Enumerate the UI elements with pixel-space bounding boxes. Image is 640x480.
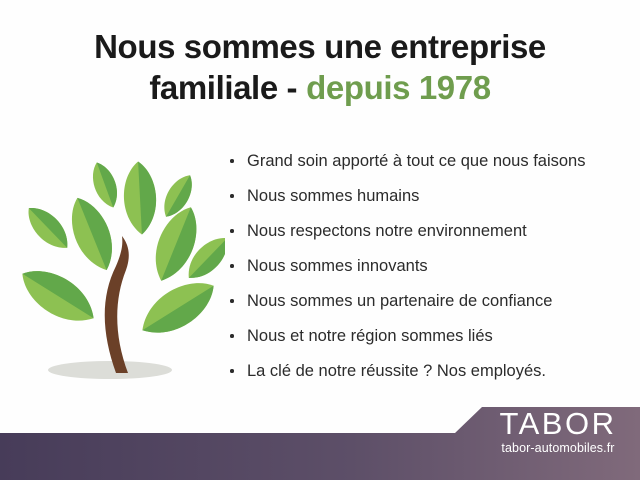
- bullet-icon: [230, 194, 234, 198]
- list-item: Nous sommes innovants: [228, 255, 632, 290]
- slide-canvas: Nous sommes une entreprise familiale -de…: [0, 0, 640, 480]
- brand-url: tabor-automobiles.fr: [478, 441, 638, 455]
- bullet-icon: [230, 334, 234, 338]
- list-item: Nous sommes humains: [228, 185, 632, 220]
- list-item-label: Nous respectons notre environnement: [247, 222, 527, 240]
- footer-bar: TABOR tabor-automobiles.fr: [0, 398, 640, 480]
- list-item-label: Nous sommes un partenaire de confiance: [247, 292, 552, 310]
- bullet-icon: [230, 369, 234, 373]
- page-title-accent: depuis 1978: [306, 69, 491, 106]
- brand-wordmark: TABOR: [478, 408, 638, 440]
- list-item-label: Nous et notre région sommes liés: [247, 327, 493, 345]
- page-title: Nous sommes une entreprise familiale -de…: [0, 26, 640, 108]
- list-item: Nous respectons notre environnement: [228, 220, 632, 255]
- bullet-icon: [230, 299, 234, 303]
- tree-shadow: [48, 361, 172, 379]
- list-item-label: Grand soin apporté à tout ce que nous fa…: [247, 152, 585, 170]
- bullet-icon: [230, 229, 234, 233]
- page-title-line-1: Nous sommes une entreprise: [94, 28, 546, 65]
- page-title-line-2: familiale -depuis 1978: [0, 67, 640, 108]
- list-item-label: Nous sommes humains: [247, 187, 419, 205]
- list-item: Grand soin apporté à tout ce que nous fa…: [228, 150, 632, 185]
- list-item: Nous sommes un partenaire de confiance: [228, 290, 632, 325]
- brand-logo[interactable]: TABOR tabor-automobiles.fr: [478, 408, 638, 455]
- bullet-icon: [230, 264, 234, 268]
- list-item-label: La clé de notre réussite ? Nos employés.: [247, 362, 546, 380]
- tree-illustration: [10, 148, 225, 388]
- page-title-line-2-main: familiale -: [149, 69, 297, 106]
- benefits-list: Grand soin apporté à tout ce que nous fa…: [228, 150, 632, 395]
- bullet-icon: [230, 159, 234, 163]
- list-item: La clé de notre réussite ? Nos employés.: [228, 360, 632, 395]
- list-item: Nous et notre région sommes liés: [228, 325, 632, 360]
- list-item-label: Nous sommes innovants: [247, 257, 428, 275]
